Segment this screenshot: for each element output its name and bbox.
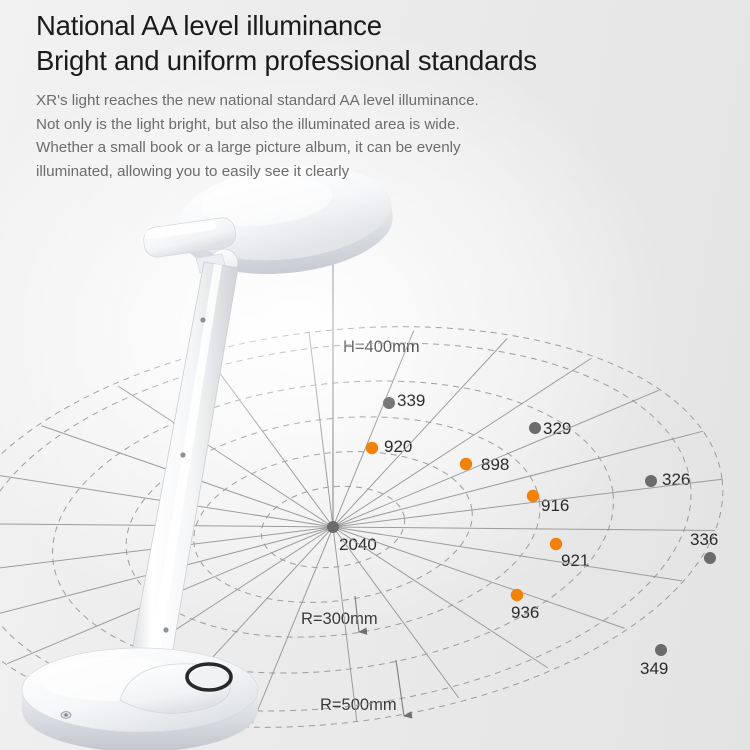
text-block: National AA level illuminance Bright and… [36,8,726,183]
base-port-dot [64,713,67,716]
arm-screw-low [163,627,168,632]
illuminance-diagram-page: National AA level illuminance Bright and… [0,0,750,750]
headline-line-1: National AA level illuminance [36,8,726,43]
headline: National AA level illuminance Bright and… [36,8,726,78]
paragraph-line-1: XR's light reaches the new national stan… [36,89,726,113]
description-paragraph: XR's light reaches the new national stan… [36,89,726,183]
arm-screw-mid [180,452,185,457]
power-ring-inner[interactable] [191,668,227,687]
paragraph-line-2: Not only is the light bright, but also t… [36,113,726,137]
headline-line-2: Bright and uniform professional standard… [36,43,726,78]
arm-screw-top [200,317,205,322]
paragraph-line-3: Whether a small book or a large picture … [36,136,726,160]
lamp-base [22,648,258,750]
paragraph-line-4: illuminated, allowing you to easily see … [36,160,726,184]
